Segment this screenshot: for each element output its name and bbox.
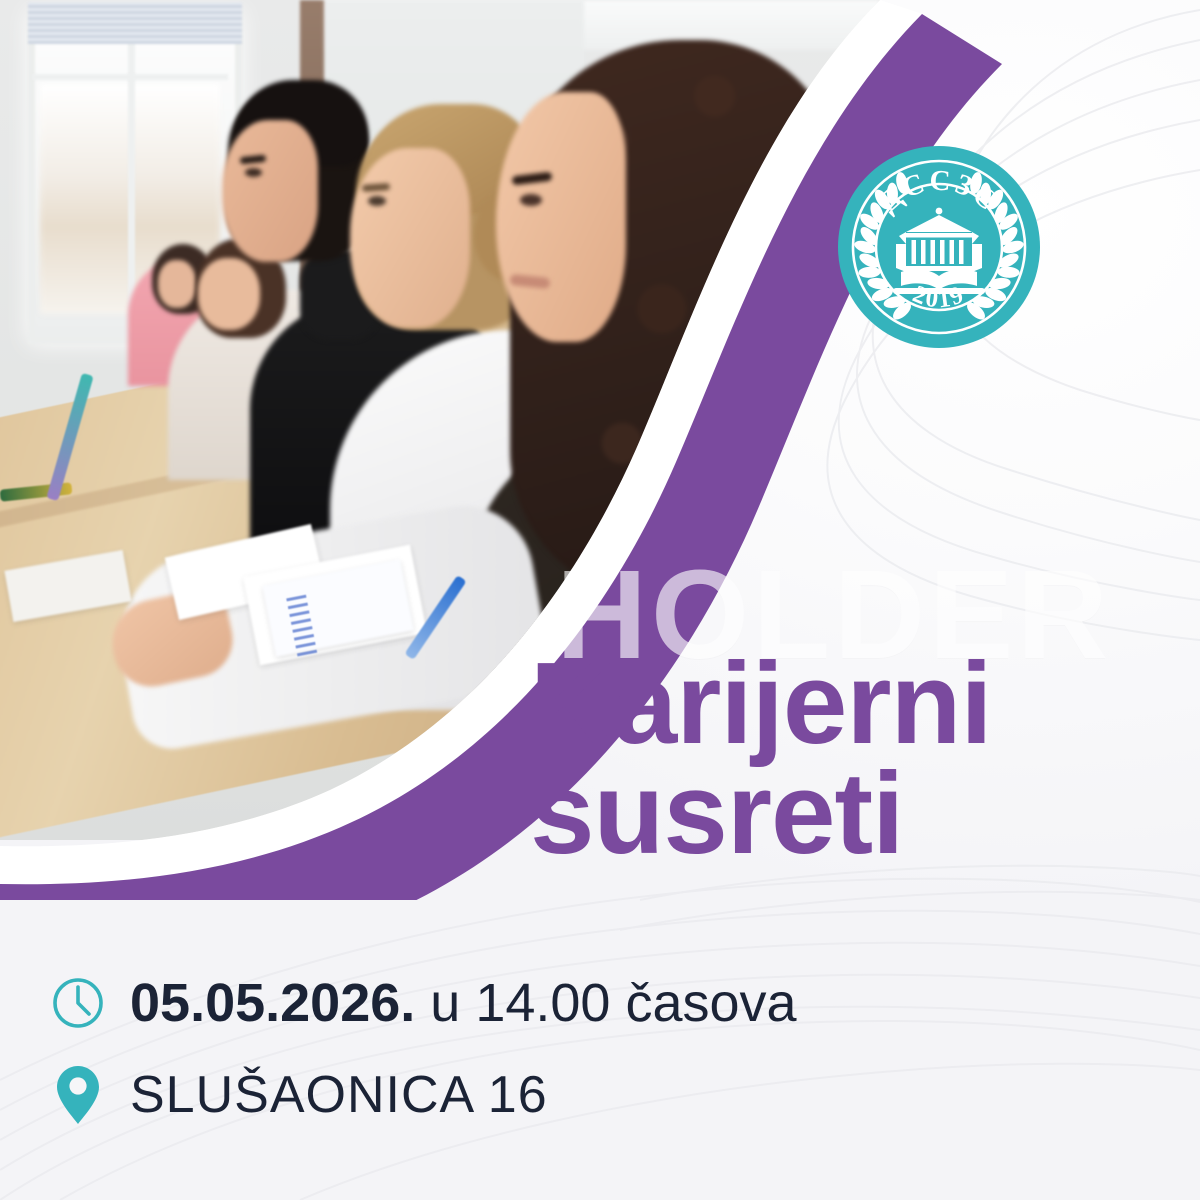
map-pin-icon (50, 1064, 106, 1126)
event-details: 05.05.2026. u 14.00 časova SLUŠAONICA 16 (50, 972, 1150, 1156)
university-building-icon (896, 208, 982, 272)
event-datetime: 05.05.2026. u 14.00 časova (130, 972, 797, 1034)
headline-line-2: susreti (530, 758, 1180, 868)
organization-badge: ДССЗС 2019 (838, 146, 1040, 348)
event-location-row: SLUŠAONICA 16 (50, 1064, 1150, 1126)
event-date: 05.05.2026. (130, 973, 415, 1033)
event-datetime-row: 05.05.2026. u 14.00 časova (50, 972, 1150, 1034)
clock-icon (50, 972, 106, 1034)
event-time: u 14.00 časova (415, 973, 796, 1033)
event-location: SLUŠAONICA 16 (130, 1065, 548, 1125)
page-title: Karijerni susreti (530, 648, 1180, 868)
badge-emblem: ДССЗС 2019 (844, 152, 1034, 342)
open-book-icon (893, 269, 985, 294)
event-poster: ДССЗС 2019 (0, 0, 1200, 1200)
